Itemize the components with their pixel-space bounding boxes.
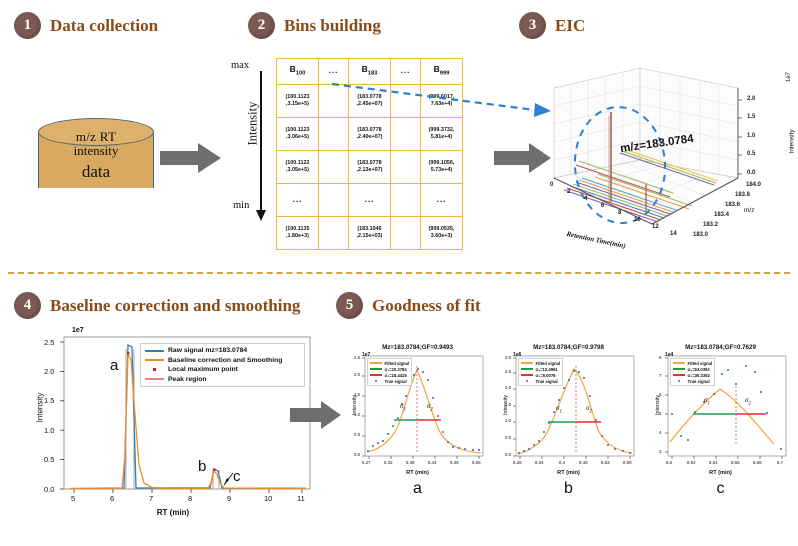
legend-swatch-fitted-signal: [673, 362, 685, 363]
fit-chart-b-y-tick-1: 0.5: [505, 435, 511, 440]
bins-cell-r3c3: (183.0778,2.13e+07): [349, 151, 391, 184]
legend-swatch-raw-signal: [145, 350, 164, 352]
step-header-3: 3 EIC: [519, 12, 585, 39]
fit-chart-a-sigma1-label: σ1: [400, 402, 406, 412]
fit-chart-b-x-tick-5: 8.59: [623, 460, 632, 465]
legend-swatch-sigma2: [370, 374, 382, 375]
legend-swatch-sigma2: [521, 374, 533, 375]
intensity-axis-arrowhead: [256, 210, 266, 221]
step-header-5: 5 Goodness of fit: [336, 292, 481, 319]
legend-swatch-sigma2: [673, 374, 685, 375]
legend-label-sigma1: σ₁=20.3784: [385, 367, 407, 372]
table-row: ... ... ...: [277, 184, 463, 217]
bins-cell-r4c2: [319, 184, 349, 217]
baseline-y-tick-5: 2.5: [44, 338, 54, 347]
eic-y-tick-4: 183.2: [703, 222, 718, 228]
fit-chart-c-x-tick-4: 8.68: [753, 460, 762, 465]
step-title-1: Data collection: [50, 16, 158, 36]
eic-y-tick-2: 183.6: [725, 202, 740, 208]
bins-cell-r5c4: [391, 217, 421, 250]
fit-chart-c-x-tick-0: 8.6: [666, 460, 672, 465]
baseline-y-exponent: 1e7: [72, 327, 84, 334]
step-title-3: EIC: [555, 16, 585, 36]
eic-y-tick-3: 183.4: [714, 212, 729, 218]
fit-chart-a-y-tick-3: 1.5: [354, 392, 360, 397]
eic-x-tick-5: 10: [634, 217, 641, 223]
bins-cell-r4c1: ...: [277, 184, 319, 217]
legend-label-fitted-signal: Fitted signal: [385, 361, 410, 366]
fit-chart-a-y-tick-2: 1.0: [354, 412, 360, 417]
baseline-y-tick-2: 1.0: [44, 426, 54, 435]
fit-chart-a: Mz=183.0784;GF=0.9493 1e7 Intensity RT (…: [345, 344, 490, 496]
baseline-x-tick-3: 8: [188, 494, 192, 503]
legend-label-baseline-smoothing: Baseline correction and Smoothing: [168, 357, 282, 364]
legend-swatch-local-max: [145, 368, 164, 371]
fit-chart-c-x-axis-title: RT (min): [648, 470, 793, 476]
baseline-x-tick-1: 6: [110, 494, 114, 503]
fit-chart-a-x-axis-title: RT (min): [345, 470, 490, 476]
eic-x-tick-1: 2: [567, 189, 570, 195]
table-row: (100.1135,1.80e+3) (183.1046,2.15e+03) (…: [277, 217, 463, 250]
fit-chart-c-x-tick-1: 8.62: [687, 460, 696, 465]
step-title-5: Goodness of fit: [372, 296, 481, 316]
fit-chart-c-y-tick-0: 3: [659, 449, 661, 454]
bins-cell-r1c1: (100.1123,3.15e+5): [277, 85, 319, 118]
eic-z-axis-title: Intensity: [789, 129, 796, 153]
legend-item-raw-signal: Raw signal mz=183.0784: [145, 347, 300, 354]
legend-label-local-max: Local maximum point: [168, 366, 238, 373]
legend-item-fitted-signal: Fitted signal: [521, 361, 560, 366]
fit-chart-c-title: Mz=183.0784;GF=0.7629: [648, 344, 793, 351]
legend-label-sigma1: σ₁=12.4961: [536, 367, 558, 372]
bin-to-eic-connector: [330, 80, 570, 125]
fit-chart-b-y-tick-4: 2.0: [505, 385, 511, 390]
legend-label-sigma2: σ₂=9.0076: [536, 373, 556, 378]
step-title-2: Bins building: [284, 16, 381, 36]
bins-cell-r2c1: (100.1123,3.06e+5): [277, 118, 319, 151]
eic-z-exponent: 1e7: [786, 72, 792, 82]
fit-chart-b-title: Mz=183.0784;GF=0.9798: [496, 344, 641, 351]
fit-chart-b-y-tick-6: 3.0: [505, 355, 511, 360]
workflow-diagram: 1 Data collection m/z RT intensity data …: [0, 0, 798, 546]
eic-x-tick-0: 0: [550, 182, 553, 188]
cylinder-label-data: data: [82, 163, 110, 181]
cylinder-labels: m/z RT intensity data: [38, 118, 154, 193]
bins-cell-r3c2: [319, 151, 349, 184]
fit-chart-c: Mz=183.0784;GF=0.7629 1e4 Intensity RT (…: [648, 344, 793, 496]
eic-x-tick-6: 12: [652, 224, 659, 230]
fit-chart-c-x-tick-3: 8.66: [731, 460, 740, 465]
bins-header-b100: B100: [277, 59, 319, 85]
fit-chart-c-sigma1-label: σ1: [704, 396, 710, 406]
fit-chart-c-y-tick-5: 8: [659, 355, 661, 360]
eic-y-tick-5: 183.0: [693, 232, 708, 238]
fit-chart-a-y-tick-5: 2.5: [354, 355, 360, 360]
legend-item-true-signal: True signal: [673, 379, 712, 384]
fit-chart-b-x-tick-4: 8.53: [601, 460, 610, 465]
legend-item-true-signal: True signal: [521, 379, 560, 384]
fit-chart-b-caption: b: [496, 480, 641, 498]
fit-chart-a-x-tick-2: 6.38: [406, 460, 415, 465]
bins-cell-r5c2: [319, 217, 349, 250]
intensity-axis-title: Intensity: [246, 89, 261, 159]
legend-swatch-true-signal: [521, 380, 533, 382]
intensity-axis-min-label: min: [233, 200, 249, 211]
baseline-x-axis-title: RT (min): [28, 508, 318, 517]
fit-chart-a-x-tick-4: 6.49: [450, 460, 459, 465]
fit-chart-b-y-tick-2: 1.0: [505, 418, 511, 423]
bins-cell-r4c4: [391, 184, 421, 217]
intensity-axis-max-label: max: [231, 60, 249, 71]
fit-chart-a-legend: Fitted signal σ₁=20.3784 σ₂=18.4425 True…: [367, 358, 412, 386]
eic-z-tick-4: 0.0: [747, 170, 755, 176]
fit-chart-a-x-tick-0: 6.27: [362, 460, 371, 465]
legend-item-fitted-signal: Fitted signal: [370, 361, 409, 366]
fit-chart-b-x-tick-3: 8.46: [579, 460, 588, 465]
fit-chart-b-x-tick-1: 8.34: [535, 460, 544, 465]
baseline-legend: Raw signal mz=183.0784 Baseline correcti…: [140, 343, 305, 387]
bins-cell-r5c3: (183.1046,2.15e+03): [349, 217, 391, 250]
step-badge-1: 1: [14, 12, 41, 39]
legend-label-raw-signal: Raw signal mz=183.0784: [168, 347, 247, 354]
step-badge-4: 4: [14, 292, 41, 319]
legend-label-sigma2: σ₂=36.3392: [688, 373, 710, 378]
baseline-y-tick-3: 1.5: [44, 396, 54, 405]
step-badge-3: 3: [519, 12, 546, 39]
fit-chart-b-x-tick-0: 8.28: [513, 460, 522, 465]
fit-chart-b-sigma2-label: σ2: [586, 404, 592, 414]
legend-label-sigma2: σ₂=18.4425: [385, 373, 407, 378]
legend-item-sigma2: σ₂=36.3392: [673, 373, 712, 378]
fit-chart-a-y-tick-4: 2.0: [354, 372, 360, 377]
eic-z-tick-0: 2.0: [747, 96, 755, 102]
baseline-peak-label-c: c: [233, 468, 241, 485]
legend-item-true-signal: True signal: [370, 379, 409, 384]
table-row: (100.1122,3.05e+5) (183.0778,2.13e+07) (…: [277, 151, 463, 184]
legend-item-sigma2: σ₂=18.4425: [370, 373, 409, 378]
legend-swatch-peak-region: [145, 378, 164, 380]
step-title-4: Baseline correction and smoothing: [50, 296, 300, 316]
bins-cell-r4c5: ...: [421, 184, 463, 217]
baseline-x-tick-2: 7: [149, 494, 153, 503]
fit-chart-c-y-tick-1: 4: [659, 430, 661, 435]
fit-chart-c-caption: c: [648, 480, 793, 498]
fit-chart-c-sigma2-label: σ2: [745, 396, 751, 406]
section-divider: [8, 272, 790, 274]
legend-item-local-max: Local maximum point: [145, 366, 300, 373]
bins-cell-r5c1: (100.1135,1.80e+3): [277, 217, 319, 250]
fit-chart-a-x-tick-3: 6.44: [428, 460, 437, 465]
cylinder-label-mz-rt: m/z RT: [76, 130, 116, 144]
baseline-x-tick-4: 9: [227, 494, 231, 503]
fit-chart-c-y-axis-title: Intensity: [655, 375, 661, 435]
eic-x-tick-2: 4: [584, 196, 587, 202]
legend-swatch-true-signal: [370, 380, 382, 382]
bins-cell-r5c5: (999.0535,3.60e+3): [421, 217, 463, 250]
legend-swatch-fitted-signal: [370, 362, 382, 363]
eic-y-axis-title: m/z: [744, 207, 754, 214]
legend-label-true-signal: True signal: [688, 379, 710, 384]
legend-swatch-fitted-signal: [521, 362, 533, 363]
arrow-step1-to-step2: [160, 142, 222, 174]
fit-chart-a-caption: a: [345, 480, 490, 498]
fit-chart-a-title: Mz=183.0784;GF=0.9493: [345, 344, 490, 351]
eic-z-tick-1: 1.5: [747, 114, 755, 120]
baseline-x-tick-0: 5: [71, 494, 75, 503]
legend-item-sigma1: σ₁=53.0392: [673, 367, 712, 372]
fit-chart-a-y-tick-1: 0.5: [354, 432, 360, 437]
bins-cell-r3c5: (999.1056,5.73e+4): [421, 151, 463, 184]
legend-swatch-sigma1: [521, 368, 533, 369]
legend-label-fitted-signal: Fitted signal: [536, 361, 561, 366]
data-cylinder: m/z RT intensity data: [38, 118, 154, 203]
legend-item-sigma1: σ₁=20.3784: [370, 367, 409, 372]
arrow-step4-to-step5: [290, 400, 342, 430]
fit-chart-c-y-tick-4: 7: [659, 373, 661, 378]
fit-chart-b-y-tick-3: 1.5: [505, 402, 511, 407]
baseline-y-tick-1: 0.5: [44, 455, 54, 464]
fit-chart-a-y-axis-title: Intensity: [352, 375, 358, 435]
step-badge-2: 2: [248, 12, 275, 39]
fit-chart-b-x-tick-2: 8.4: [559, 460, 565, 465]
fit-chart-b-x-axis-title: RT (min): [496, 470, 641, 476]
legend-label-true-signal: True signal: [385, 379, 407, 384]
legend-item-fitted-signal: Fitted signal: [673, 361, 712, 366]
fit-chart-c-legend: Fitted signal σ₁=53.0392 σ₂=36.3392 True…: [670, 358, 715, 386]
step-header-1: 1 Data collection: [14, 12, 158, 39]
legend-label-true-signal: True signal: [536, 379, 558, 384]
intensity-axis: max min Intensity: [231, 60, 271, 225]
eic-z-tick-3: 0.5: [747, 151, 755, 157]
bins-cell-r4c3: ...: [349, 184, 391, 217]
step-badge-5: 5: [336, 292, 363, 319]
eic-x-tick-7: 14: [670, 231, 677, 237]
legend-swatch-sigma1: [673, 368, 685, 369]
baseline-correction-chart: 1e7 Intensity RT (min): [28, 325, 318, 522]
fit-chart-a-y-tick-0: 0.0: [354, 452, 360, 457]
legend-swatch-true-signal: [673, 380, 685, 382]
fit-chart-a-x-tick-5: 6.55: [472, 460, 481, 465]
baseline-x-tick-5: 10: [264, 494, 272, 503]
fit-chart-c-y-tick-3: 6: [659, 392, 661, 397]
eic-y-tick-0: 184.0: [746, 182, 761, 188]
eic-z-tick-2: 1.0: [747, 133, 755, 139]
bins-cell-r3c4: [391, 151, 421, 184]
baseline-peak-label-a: a: [110, 357, 118, 374]
eic-x-tick-3: 6: [601, 203, 604, 209]
fit-chart-b-legend: Fitted signal σ₁=12.4961 σ₂=9.0076 True …: [518, 358, 563, 386]
baseline-x-tick-6: 11: [297, 494, 305, 503]
baseline-y-tick-4: 2.0: [44, 367, 54, 376]
legend-swatch-sigma1: [370, 368, 382, 369]
bins-cell-r3c1: (100.1122,3.05e+5): [277, 151, 319, 184]
legend-item-peak-region: Peak region: [145, 376, 300, 383]
cylinder-label-intensity: intensity: [74, 144, 119, 158]
fit-chart-c-x-tick-2: 8.64: [709, 460, 718, 465]
step-header-2: 2 Bins building: [248, 12, 381, 39]
eic-y-tick-1: 183.8: [735, 192, 750, 198]
fit-chart-b: Mz=183.0784;GF=0.9798 1e6 Intensity RT (…: [496, 344, 641, 496]
legend-label-fitted-signal: Fitted signal: [688, 361, 713, 366]
arrow-step2-to-step3: [494, 142, 552, 174]
fit-chart-a-x-tick-1: 6.32: [384, 460, 393, 465]
fit-chart-b-y-tick-5: 2.5: [505, 369, 511, 374]
fit-chart-a-sigma2-label: σ2: [427, 402, 433, 412]
legend-label-peak-region: Peak region: [168, 376, 207, 383]
baseline-y-tick-0: 0.0: [44, 485, 54, 494]
legend-item-sigma1: σ₁=12.4961: [521, 367, 560, 372]
legend-label-sigma1: σ₁=53.0392: [688, 367, 710, 372]
step-header-4: 4 Baseline correction and smoothing: [14, 292, 300, 319]
baseline-peak-label-b: b: [198, 458, 206, 475]
legend-item-baseline-smoothing: Baseline correction and Smoothing: [145, 357, 300, 364]
eic-x-tick-4: 8: [618, 210, 621, 216]
legend-swatch-baseline-smoothing: [145, 359, 164, 361]
legend-item-sigma2: σ₂=9.0076: [521, 373, 560, 378]
fit-chart-c-y-tick-2: 5: [659, 411, 661, 416]
fit-chart-c-x-tick-5: 8.7: [777, 460, 783, 465]
fit-chart-b-sigma1-label: σ1: [556, 404, 562, 414]
fit-chart-b-y-tick-0: 0.0: [505, 452, 511, 457]
eic-3d-plot: m/z=183.0784 0 2 4 6 8 10 12 14 Retentio…: [548, 60, 798, 265]
